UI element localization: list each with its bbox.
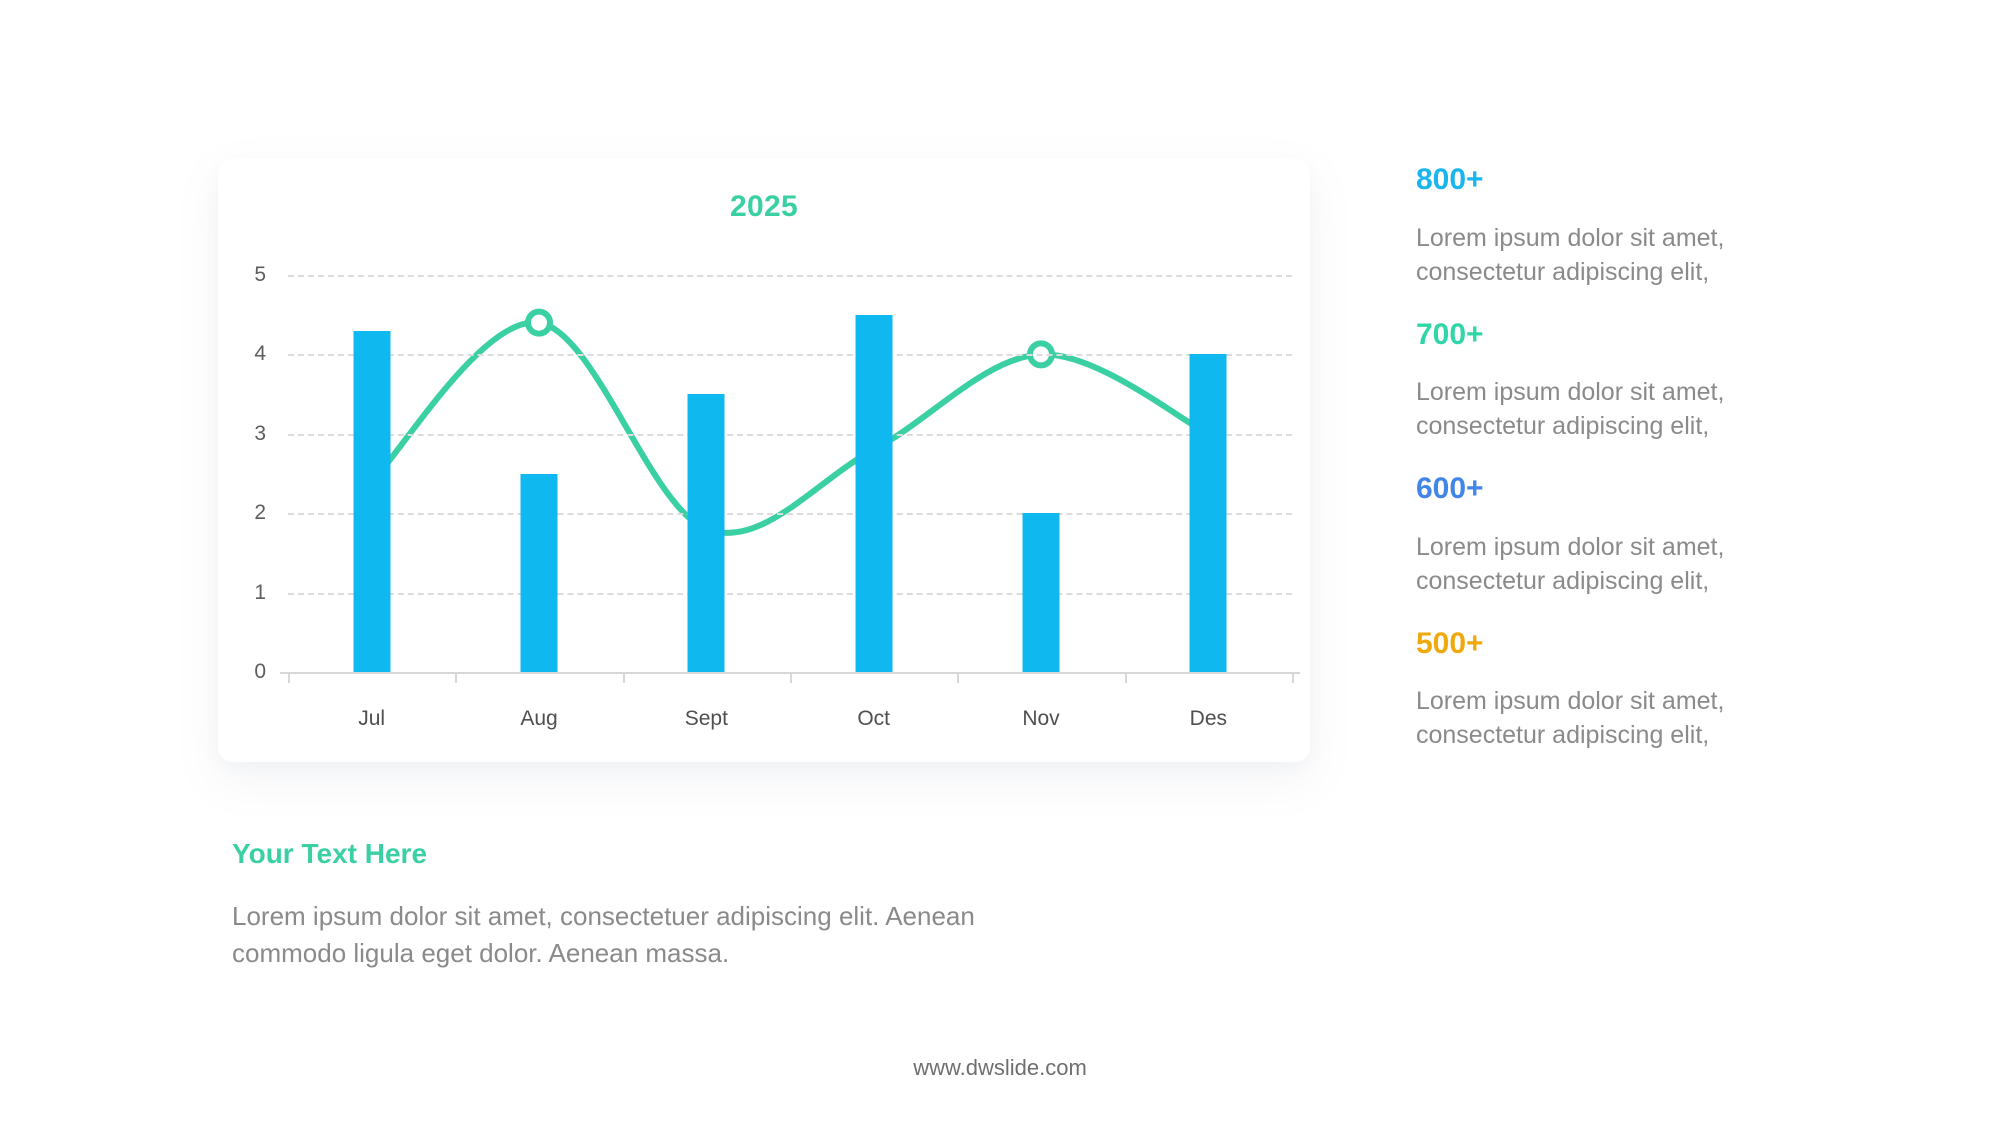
chart-title: 2025 [218, 190, 1310, 224]
x-axis-label-nov: Nov [1022, 707, 1059, 731]
stat-desc-2: Lorem ipsum dolor sit amet, consectetur … [1416, 375, 1776, 443]
stat-block-2: 700+ Lorem ipsum dolor sit amet, consect… [1416, 317, 1776, 444]
x-axis-tick [790, 672, 792, 683]
y-axis-tick-label: 2 [254, 501, 266, 525]
x-axis-tick [1125, 672, 1127, 683]
stat-value-2: 700+ [1416, 317, 1776, 354]
stat-value-3: 600+ [1416, 471, 1776, 508]
bottom-text-block: Your Text Here Lorem ipsum dolor sit ame… [232, 838, 1022, 972]
x-axis-label-aug: Aug [520, 707, 557, 731]
gridline [288, 275, 1292, 277]
x-axis-label-oct: Oct [857, 707, 890, 731]
bottom-body: Lorem ipsum dolor sit amet, consectetuer… [232, 898, 1022, 972]
stat-desc-1: Lorem ipsum dolor sit amet, consectetur … [1416, 221, 1776, 289]
x-axis-tick [455, 672, 457, 683]
x-axis-tick [623, 672, 625, 683]
chart-card: 2025 012345JulAugSeptOctNovDes [218, 158, 1310, 762]
gridline [288, 513, 1292, 515]
y-axis-tick-label: 3 [254, 422, 266, 446]
gridline [288, 593, 1292, 595]
gridline [288, 434, 1292, 436]
line-marker-aug [528, 312, 550, 334]
slide-root: 2025 012345JulAugSeptOctNovDes 800+ Lore… [0, 0, 2000, 1125]
bar-aug [521, 474, 558, 673]
x-axis-label-des: Des [1190, 707, 1227, 731]
bar-sept [688, 394, 725, 672]
stat-value-4: 500+ [1416, 626, 1776, 663]
y-axis-tick-label: 5 [254, 263, 266, 287]
stat-desc-3: Lorem ipsum dolor sit amet, consectetur … [1416, 530, 1776, 598]
stat-block-1: 800+ Lorem ipsum dolor sit amet, consect… [1416, 162, 1776, 289]
y-axis-tick-label: 0 [254, 660, 266, 684]
x-axis-tick [957, 672, 959, 683]
x-axis-label-sept: Sept [685, 707, 728, 731]
bottom-heading: Your Text Here [232, 838, 1022, 870]
x-axis-tick [1292, 672, 1294, 683]
stat-value-1: 800+ [1416, 162, 1776, 199]
y-axis-tick-label: 4 [254, 342, 266, 366]
line-series-layer [288, 235, 1292, 715]
footer-url: www.dwslide.com [0, 1055, 2000, 1081]
stat-block-3: 600+ Lorem ipsum dolor sit amet, consect… [1416, 471, 1776, 598]
stat-block-4: 500+ Lorem ipsum dolor sit amet, consect… [1416, 626, 1776, 753]
gridline [288, 354, 1292, 356]
bar-nov [1023, 513, 1060, 672]
stats-column: 800+ Lorem ipsum dolor sit amet, consect… [1416, 162, 1776, 780]
bar-des [1190, 354, 1227, 672]
stat-desc-4: Lorem ipsum dolor sit amet, consectetur … [1416, 684, 1776, 752]
x-axis-label-jul: Jul [358, 707, 385, 731]
y-axis-tick-label: 1 [254, 581, 266, 605]
chart-plot-area: 012345JulAugSeptOctNovDes [288, 275, 1292, 672]
x-axis-tick [288, 672, 290, 683]
bar-jul [353, 331, 390, 672]
bar-oct [855, 315, 892, 672]
